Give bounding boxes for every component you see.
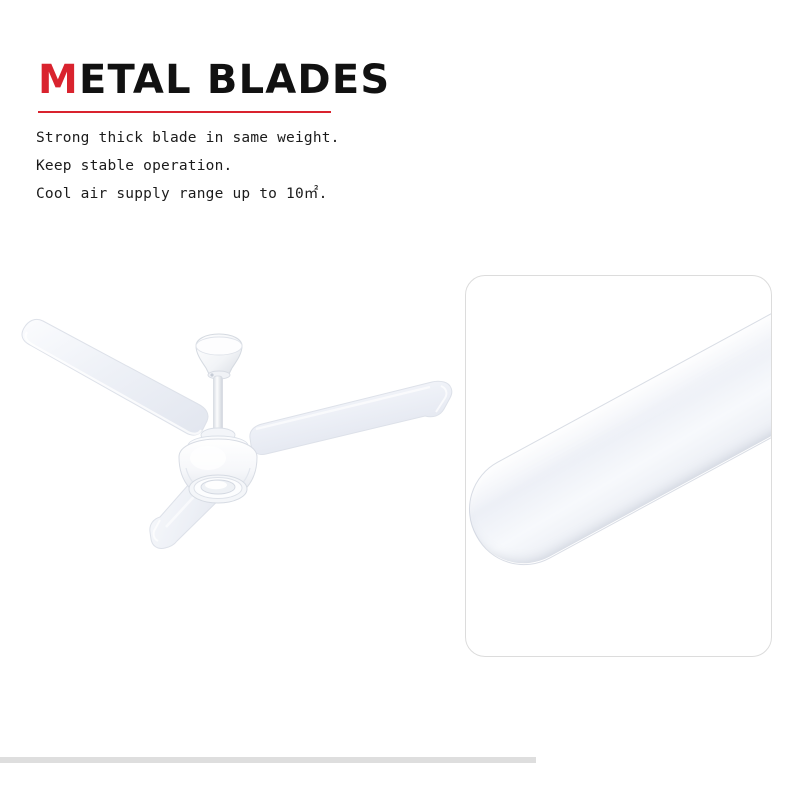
page-title: METAL BLADES	[38, 60, 390, 100]
ceiling-fan-illustration	[0, 296, 470, 586]
bottom-divider	[0, 757, 536, 763]
feature-line-3: Cool air supply range up to 10㎡.	[36, 180, 340, 208]
fan-bottom-cap	[189, 475, 247, 503]
page-title-lead-letter: M	[38, 57, 79, 103]
feature-line-1: Strong thick blade in same weight.	[36, 124, 340, 152]
feature-line-2: Keep stable operation.	[36, 152, 340, 180]
fan-downrod	[214, 376, 223, 432]
blade-closeup-panel	[465, 275, 772, 657]
title-underline	[38, 111, 331, 113]
fan-blade-upper-left	[22, 319, 208, 435]
fan-ceiling-canopy	[196, 334, 242, 379]
product-feature-slide: METAL BLADES Strong thick blade in same …	[0, 0, 800, 800]
page-title-rest: ETAL BLADES	[79, 57, 390, 103]
fan-blade-right	[250, 381, 452, 454]
feature-description: Strong thick blade in same weight. Keep …	[36, 124, 340, 208]
blade-closeup-outline	[465, 282, 772, 585]
